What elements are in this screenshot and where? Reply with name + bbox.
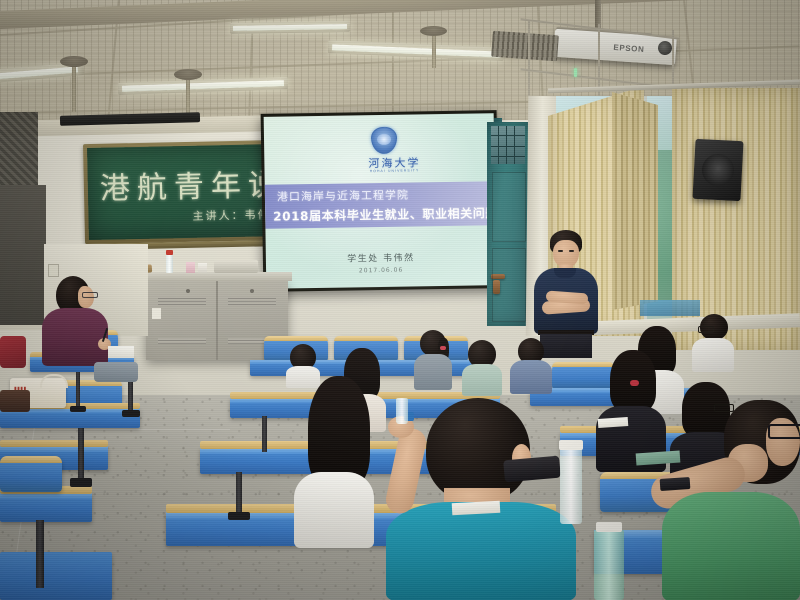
- person-student-right-white: [690, 314, 736, 372]
- seated-man-notebook: [108, 346, 134, 358]
- slide-heading-line2: 2018届本科毕业生就业、职业相关问题交流: [273, 204, 496, 225]
- window-curtain-middle[interactable]: [612, 92, 658, 310]
- seated-man-torso: [42, 308, 108, 366]
- projector-safety-cage: [520, 12, 680, 92]
- student-blue-torso: [510, 360, 552, 394]
- podium-door-split: [216, 280, 218, 360]
- door-window-bars: [491, 126, 525, 164]
- podium-handle-right[interactable]: [250, 289, 254, 293]
- green-tea-bottle-cap: [596, 522, 622, 532]
- paper-on-desk-2: [452, 501, 501, 515]
- seat-edge-mid-2: [0, 440, 108, 447]
- teal-student-raised-arm: [383, 426, 428, 516]
- slide-content: 河海大学 HOHAI UNIVERSITY 港口海岸与近海工程学院 2018届本…: [264, 113, 497, 289]
- seated-man-glasses-icon: [82, 292, 98, 298]
- speaker-eye-right: [569, 250, 574, 252]
- fan-rod-1: [72, 62, 76, 112]
- hohai-shield-icon: [371, 127, 397, 154]
- blackboard-frame: 港航青年说 主讲人：韦伟然: [83, 140, 287, 244]
- projector-control-box: [214, 260, 258, 273]
- fan-mount-3: [420, 26, 447, 36]
- university-logo-english: HOHAI UNIVERSITY: [357, 168, 433, 173]
- student-right-white-glasses-icon: [698, 326, 714, 333]
- person-student-green-foreground: [650, 400, 800, 600]
- seat-foot-2: [122, 410, 140, 417]
- student-black-hairtie: [630, 380, 639, 386]
- projector-indicator-light: [574, 68, 577, 77]
- podium-vent-lower-left: [158, 338, 206, 344]
- wall-speaker: [692, 139, 743, 201]
- person-student-teal-foreground: [386, 398, 576, 600]
- seat-leg-4: [36, 520, 44, 588]
- person-student-longhair-center: [290, 376, 382, 548]
- speaker-cone: [701, 153, 735, 187]
- podium-cup-pink: [186, 262, 195, 273]
- water-bottle-row4: [396, 398, 408, 424]
- green-tea-bottle: [594, 530, 624, 600]
- door-window: [491, 126, 525, 164]
- seat-leg-3: [78, 428, 84, 482]
- seat-foot-3: [70, 478, 92, 487]
- person-student-center-back: [462, 340, 502, 394]
- student-right-white-torso: [692, 338, 734, 372]
- student-center-back-torso: [462, 364, 502, 396]
- podium-vent-upper-right: [228, 298, 276, 305]
- door-lower-panel: [492, 248, 526, 322]
- university-logo-block: 河海大学 HOHAI UNIVERSITY: [336, 126, 433, 178]
- fan-mount-1: [60, 56, 88, 67]
- red-backpack: [0, 336, 26, 368]
- water-bottle-row5: [560, 448, 582, 524]
- podium-label-tag: [152, 308, 161, 319]
- speaker-eye-left: [558, 250, 563, 252]
- seat-foot-1: [70, 406, 86, 412]
- seat-foot-row5: [228, 512, 250, 520]
- slide-heading-line1: 港口海岸与近海工程学院: [277, 187, 409, 205]
- student-grey-torso: [414, 354, 452, 390]
- green-student-glasses-icon: [768, 424, 800, 439]
- lecture-hall-photo: EPSON 港航青年说 主讲人：韦伟然: [0, 0, 800, 600]
- phone-on-desk[interactable]: [660, 477, 691, 491]
- longhair-student-torso: [294, 472, 374, 548]
- person-student-grey-top: [412, 330, 454, 388]
- bag-dark-item: [0, 390, 30, 412]
- podium-handle-left[interactable]: [186, 289, 190, 293]
- fan-mount-2: [174, 69, 202, 80]
- seat-leg-row5: [236, 472, 242, 516]
- blackboard-title: 港航青年说: [99, 160, 285, 208]
- podium-vent-upper-left: [158, 298, 206, 305]
- classroom-door[interactable]: [487, 122, 529, 326]
- green-student-torso: [662, 492, 800, 600]
- podium-top-surface: [142, 272, 292, 281]
- seat-desk-near-2[interactable]: [0, 552, 112, 600]
- blackboard-surface: 港航青年说 主讲人：韦伟然: [87, 144, 283, 240]
- podium-bottle-cap: [166, 250, 173, 255]
- person-student-blue-shirt: [510, 338, 552, 394]
- left-wall-grille: [0, 112, 38, 192]
- projection-screen-frame: 河海大学 HOHAI UNIVERSITY 港口海岸与近海工程学院 2018届本…: [261, 110, 500, 292]
- seat-leg-row4: [262, 416, 267, 452]
- podium-water-bottle: [166, 254, 173, 273]
- seat-desk-near-1[interactable]: [0, 492, 92, 522]
- teal-student-torso: [386, 502, 576, 600]
- seat-back-near-1[interactable]: [0, 456, 62, 492]
- seated-man-trousers: [94, 362, 138, 382]
- water-bottle-row5-cap: [559, 440, 583, 450]
- projector-assembly: EPSON: [470, 0, 700, 95]
- student-grey-hairtie: [440, 346, 446, 350]
- person-seated-man-left: [34, 276, 144, 382]
- door-upper-panel: [492, 172, 526, 242]
- podium-cup-white: [198, 263, 207, 273]
